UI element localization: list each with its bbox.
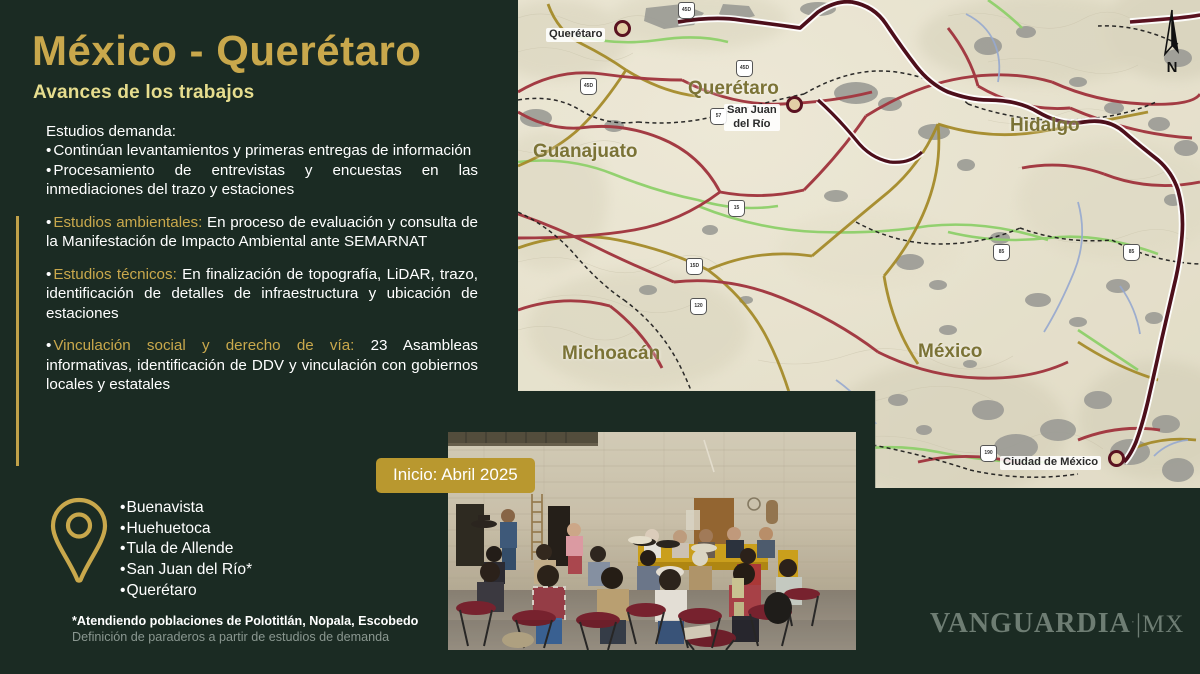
- section-lead: Estudios demanda:: [46, 122, 478, 141]
- svg-text:N: N: [1167, 59, 1178, 76]
- progress-sections: Estudios demanda: Continúan levantamient…: [46, 122, 478, 407]
- localities-list: Buenavista Huehuetoca Tula de Allende Sa…: [120, 498, 252, 602]
- section-lead: Estudios ambientales:: [53, 214, 202, 231]
- station-marker-san-juan-del-rio: [786, 96, 803, 113]
- map-pin-icon: [48, 495, 110, 585]
- highway-shield-icon: 45D: [678, 2, 695, 19]
- footnote-secondary: Definición de paraderos a partir de estu…: [72, 630, 492, 644]
- highway-shield-icon: 15: [728, 200, 745, 217]
- map-vector-layer: [518, 0, 1200, 488]
- list-item: Buenavista: [120, 498, 252, 519]
- footnote-primary: *Atendiendo poblaciones de Polotitlán, N…: [72, 614, 492, 628]
- highway-shield-icon: 190: [980, 445, 997, 462]
- highway-shield-icon: 120: [690, 298, 707, 315]
- section-lead: Estudios técnicos:: [53, 266, 177, 283]
- page-subtitle: Avances de los trabajos: [33, 82, 254, 104]
- map-state-label: Querétaro: [688, 78, 779, 100]
- page-title: México - Querétaro: [32, 30, 421, 72]
- presentation-slide: México - Querétaro Avances de los trabaj…: [0, 0, 1200, 674]
- list-item: Huehuetoca: [120, 519, 252, 540]
- map-state-label: Michoacán: [562, 343, 660, 365]
- list-item: Tula de Allende: [120, 539, 252, 560]
- watermark-divider: |: [1136, 609, 1141, 638]
- map-city-label: San Juandel Río: [724, 104, 780, 131]
- section-bullet: Procesamiento de entrevistas y encuestas…: [46, 161, 478, 200]
- vanguardia-watermark: VANGUARDIA·|MX: [930, 608, 1184, 640]
- route-map: 45D 57 45D 45D 120 85 85 15 15D 15D 190 …: [518, 0, 1200, 488]
- north-arrow-icon: N: [1158, 8, 1186, 76]
- left-content-panel: México - Querétaro Avances de los trabaj…: [0, 0, 520, 674]
- map-state-label: Guanajuato: [533, 141, 638, 163]
- list-item: San Juan del Río*: [120, 560, 252, 581]
- section-estudios-demanda: Estudios demanda: Continúan levantamient…: [46, 122, 478, 200]
- list-item: Querétaro: [120, 581, 252, 602]
- station-marker-ciudad-de-mexico: [1108, 450, 1125, 467]
- watermark-main: VANGUARDIA: [930, 608, 1131, 639]
- map-city-label: Ciudad de México: [1000, 456, 1101, 470]
- highway-shield-icon: 85: [993, 244, 1010, 261]
- map-terrain-layer: [518, 0, 1200, 488]
- map-city-label: Querétaro: [546, 28, 605, 42]
- station-marker-queretaro: [614, 20, 631, 37]
- highway-shield-icon: 45D: [736, 60, 753, 77]
- watermark-suffix: MX: [1142, 611, 1184, 638]
- section-estudios-ambientales: Estudios ambientales: En proceso de eval…: [46, 213, 478, 252]
- highway-shield-icon: 15D: [686, 258, 703, 275]
- highway-shield-icon: 45D: [580, 78, 597, 95]
- map-state-label: Hidalgo: [1010, 115, 1080, 137]
- section-vinculacion-social: Vinculación social y derecho de vía: 23 …: [46, 336, 478, 394]
- section-estudios-tecnicos: Estudios técnicos: En finalización de to…: [46, 265, 478, 323]
- map-state-label: México: [918, 341, 982, 363]
- highway-shield-icon: 85: [1123, 244, 1140, 261]
- section-bullet: Continúan levantamientos y primeras entr…: [46, 141, 478, 160]
- start-date-badge: Inicio: Abril 2025: [376, 458, 535, 493]
- watermark-dot: ·: [1131, 615, 1135, 629]
- gold-accent-divider: [16, 216, 19, 466]
- section-lead: Vinculación social y derecho de vía:: [53, 337, 354, 354]
- section-paragraph: Estudios ambientales: En proceso de eval…: [46, 213, 478, 252]
- section-paragraph: Vinculación social y derecho de vía: 23 …: [46, 336, 478, 394]
- section-paragraph: Estudios técnicos: En finalización de to…: [46, 265, 478, 323]
